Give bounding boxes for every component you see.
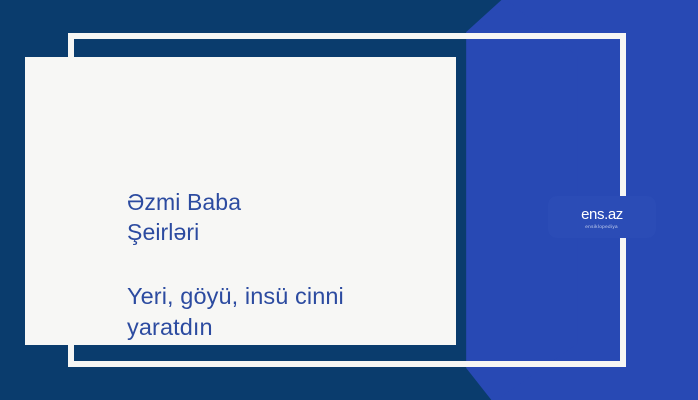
ens-az-wordmark: ens.az [581, 207, 623, 222]
text-block: Əzmi Baba Şeirləri Yeri, göyü, insü cinn… [127, 187, 457, 343]
poem-title-line-2: Şeirləri [127, 217, 457, 247]
poem-body: Yeri, göyü, insü cinni yaratdın [127, 281, 457, 343]
poem-card-image: Əzmi Baba Şeirləri Yeri, göyü, insü cinn… [0, 0, 698, 400]
ens-az-logo-badge[interactable]: ens.az ensiklopediya [548, 196, 656, 238]
poem-title: Əzmi Baba Şeirləri [127, 187, 457, 247]
content-card: Əzmi Baba Şeirləri Yeri, göyü, insü cinn… [25, 57, 456, 345]
poem-body-line-1: Yeri, göyü, insü cinni [127, 281, 457, 312]
poem-title-line-1: Əzmi Baba [127, 187, 457, 217]
poem-body-line-2: yaratdın [127, 312, 457, 343]
ens-az-tagline: ensiklopediya [586, 223, 619, 230]
